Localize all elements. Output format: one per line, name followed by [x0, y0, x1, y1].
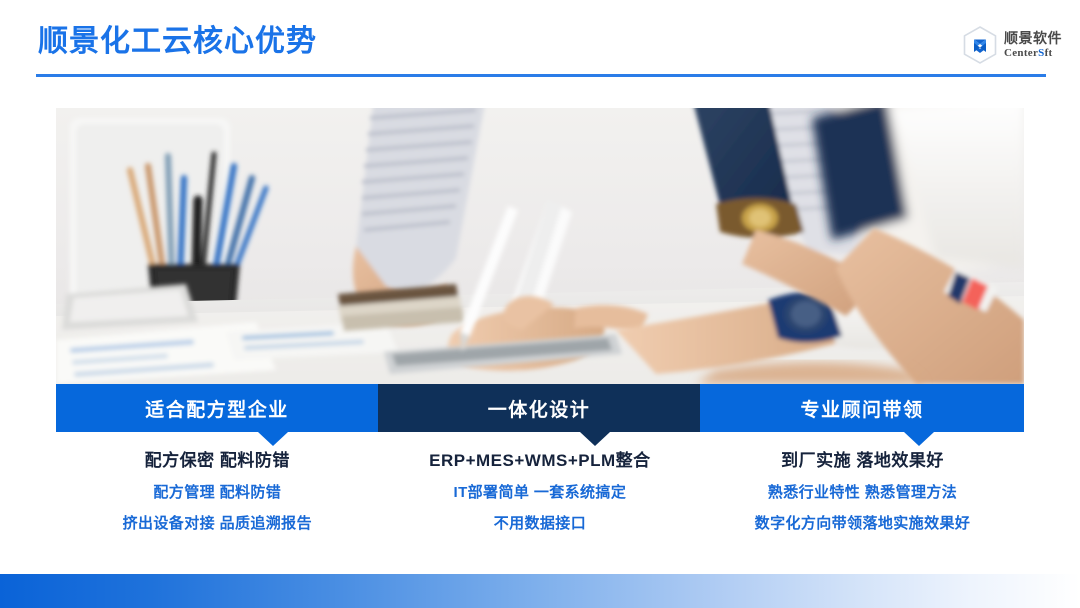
pillar-column-2-head: ERP+MES+WMS+PLM整合	[379, 450, 702, 472]
logo-en-name: CenterSft	[1004, 48, 1062, 59]
logo-cn-name: 顺景软件	[1004, 31, 1062, 45]
pillar-column-3-line-2: 数字化方向带领落地实施效果好	[701, 514, 1024, 534]
footer-gradient-bar	[0, 574, 1080, 608]
pillar-column-1-head: 配方保密 配料防错	[56, 450, 379, 472]
pillar-banner-label-2: 一体化设计	[488, 395, 591, 422]
centersoft-hexagon-icon	[963, 26, 997, 64]
pillar-banner-cell-2[interactable]: 一体化设计	[378, 384, 700, 432]
page-title: 顺景化工云核心优势	[38, 22, 317, 62]
pillar-column-2-line-1: IT部署简单 一套系统搞定	[379, 483, 702, 503]
pillar-column-3-line-1: 熟悉行业特性 熟悉管理方法	[701, 483, 1024, 503]
banner-notch-1	[258, 432, 288, 446]
pillar-column-2-line-2: 不用数据接口	[379, 514, 702, 534]
logo-en-suffix: ft	[1045, 47, 1053, 59]
brand-logo: 顺景软件 CenterSft	[963, 26, 1062, 64]
pillar-details: 配方保密 配料防错 配方管理 配料防错 挤出设备对接 品质追溯报告 ERP+ME…	[56, 450, 1024, 534]
pillar-column-1-line-2: 挤出设备对接 品质追溯报告	[56, 514, 379, 534]
banner-notch-2	[580, 432, 610, 446]
pillar-banner-label-3: 专业顾问带领	[800, 395, 923, 422]
logo-en-prefix: Center	[1004, 47, 1038, 59]
logo-wordmark: 顺景软件 CenterSft	[1004, 31, 1062, 59]
slide-root: 顺景化工云核心优势 顺景软件 CenterSft	[0, 0, 1080, 608]
pillar-column-1: 配方保密 配料防错 配方管理 配料防错 挤出设备对接 品质追溯报告	[56, 450, 379, 534]
pillar-banner-label-1: 适合配方型企业	[145, 395, 289, 422]
meeting-photo	[56, 108, 1024, 384]
pillar-column-1-line-1: 配方管理 配料防错	[56, 483, 379, 503]
meeting-photo-illustration	[56, 108, 1024, 384]
banner-notch-3	[904, 432, 934, 446]
pillar-column-2: ERP+MES+WMS+PLM整合 IT部署简单 一套系统搞定 不用数据接口	[379, 450, 702, 534]
pillar-column-3: 到厂实施 落地效果好 熟悉行业特性 熟悉管理方法 数字化方向带领落地实施效果好	[701, 450, 1024, 534]
pillar-banner: 适合配方型企业 一体化设计 专业顾问带领	[56, 384, 1024, 432]
pillar-banner-cell-1[interactable]: 适合配方型企业	[56, 384, 378, 432]
pillar-column-3-head: 到厂实施 落地效果好	[701, 450, 1024, 472]
title-divider	[36, 74, 1046, 77]
pillar-banner-cell-3[interactable]: 专业顾问带领	[700, 384, 1024, 432]
